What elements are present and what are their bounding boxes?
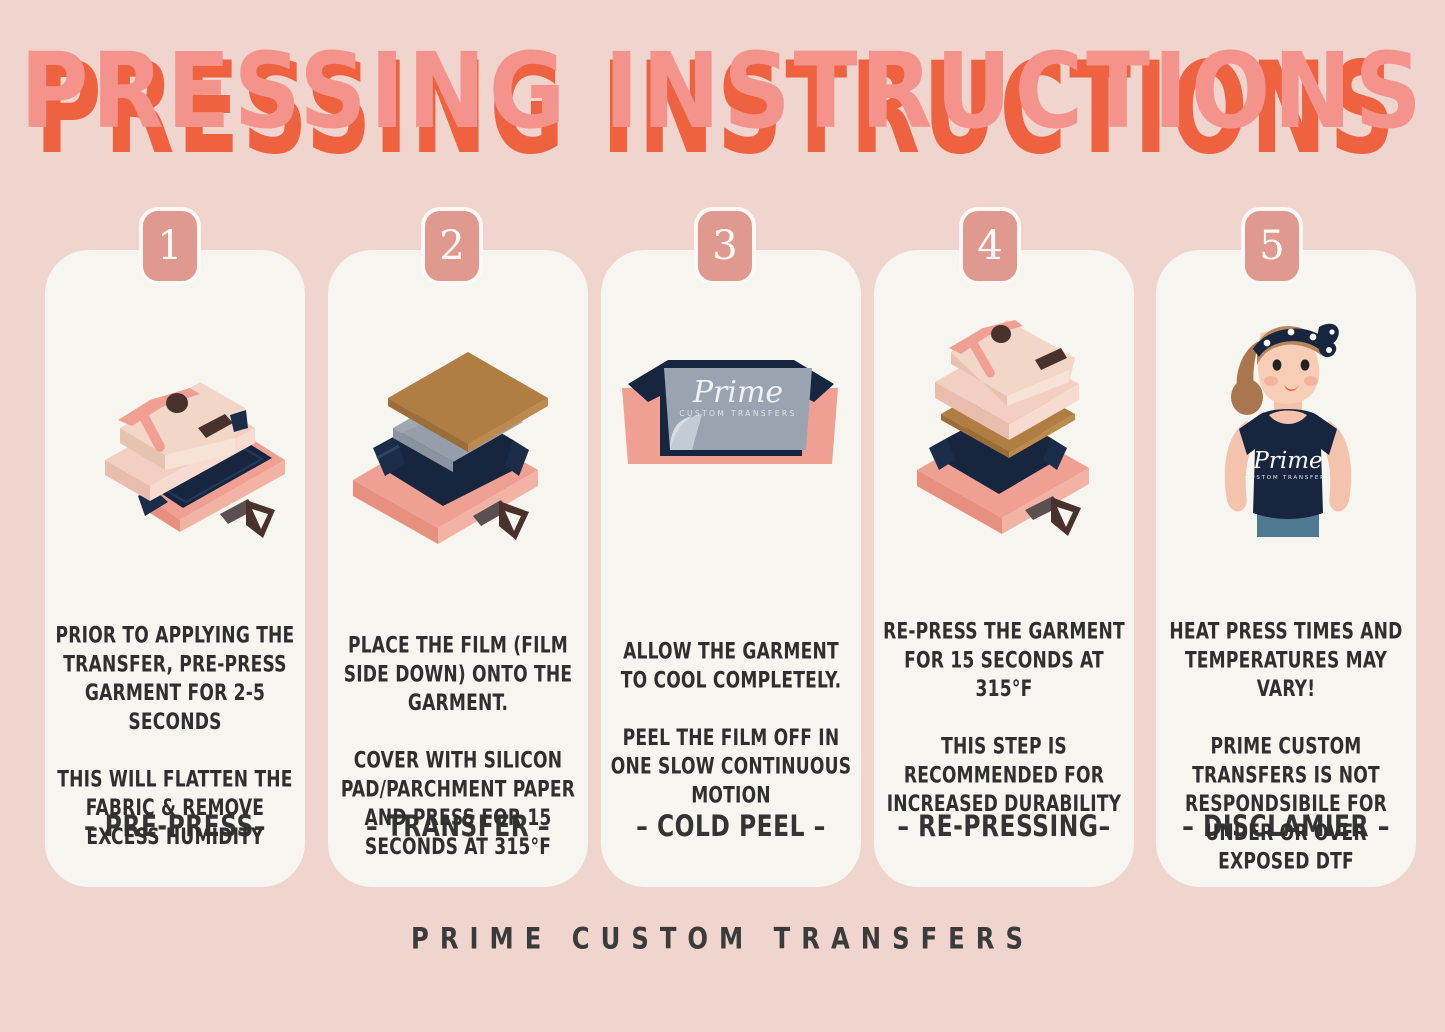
step-heading-3: – COLD PEEL – (601, 810, 861, 844)
step-body-3-para-2: PEEL THE FILM OFF IN ONE SLOW CONTINUOUS… (609, 724, 853, 810)
page-title: PRESSING INSTRUCTIONS PRESSING INSTRUCTI… (0, 36, 1445, 156)
step-body-2-para-1: PLACE THE FILM (FILM SIDE DOWN) ONTO THE… (336, 632, 580, 718)
step-body-5: HEAT PRESS TIMES AND TEMPERATURES MAY VA… (1164, 618, 1408, 877)
page-title-text: PRESSING INSTRUCTIONS (20, 30, 1425, 152)
illustration-tee-peel-film: Prime CUSTOM TRANSFERS (601, 340, 861, 590)
step-body-1-para-2: THIS WILL FLATTEN THE FABRIC & REMOVE EX… (53, 766, 297, 852)
step-body-4-para-1: RE-PRESS THE GARMENT FOR 15 SECONDS AT 3… (882, 618, 1126, 704)
step-body-5-para-1: HEAT PRESS TIMES AND TEMPERATURES MAY VA… (1164, 618, 1408, 704)
step-body-3-para-1: ALLOW THE GARMENT TO COOL COMPLETELY. (609, 638, 853, 696)
step-badge-3: 3 (694, 207, 756, 285)
step-body-2-para-2: COVER WITH SILICON PAD/PARCHMENT PAPER A… (336, 747, 580, 862)
step-badge-4: 4 (959, 207, 1021, 285)
step-body-4-para-2: THIS STEP IS RECOMMENDED FOR INCREASED D… (882, 733, 1126, 819)
illustration-heat-press-closed (45, 310, 305, 560)
illustration-woman-wearing-tee: Prime CUSTOM TRANSFERS (1156, 305, 1416, 555)
step-body-5-para-2: PRIME CUSTOM TRANSFERS IS NOT RESPONDSIB… (1164, 733, 1408, 877)
step-badge-1: 1 (139, 207, 201, 285)
step-body-1-para-1: PRIOR TO APPLYING THE TRANSFER, PRE-PRES… (53, 622, 297, 737)
step-body-1: PRIOR TO APPLYING THE TRANSFER, PRE-PRES… (53, 622, 297, 852)
footer-brand: PRIME CUSTOM TRANSFERS (0, 922, 1445, 956)
step-body-2: PLACE THE FILM (FILM SIDE DOWN) ONTO THE… (336, 632, 580, 862)
illustration-film-on-garment: Prime (328, 310, 588, 560)
step-card-4: Prime – RE-PRESSING– R (874, 250, 1134, 887)
svg-text:Prime: Prime (692, 375, 783, 410)
step-card-2: Prime – TRANSFER – PLACE THE FILM (FILM … (328, 250, 588, 887)
step-badge-2: 2 (421, 207, 483, 285)
step-card-5: Prime CUSTOM TRANSFERS (1156, 250, 1416, 887)
step-body-3: ALLOW THE GARMENT TO COOL COMPLETELY. PE… (609, 638, 853, 811)
step-badge-5: 5 (1241, 207, 1303, 285)
step-card-1: – PRE-PRESS– PRIOR TO APPLYING THE TRANS… (45, 250, 305, 887)
svg-text:CUSTOM TRANSFERS: CUSTOM TRANSFERS (679, 409, 796, 418)
step-body-4: RE-PRESS THE GARMENT FOR 15 SECONDS AT 3… (882, 618, 1126, 819)
svg-text:Prime: Prime (1252, 448, 1322, 474)
step-card-3: Prime CUSTOM TRANSFERS – COLD PEEL – ALL… (601, 250, 861, 887)
illustration-exploded-press-stack: Prime (874, 310, 1134, 560)
svg-text:CUSTOM TRANSFERS: CUSTOM TRANSFERS (1245, 475, 1331, 481)
